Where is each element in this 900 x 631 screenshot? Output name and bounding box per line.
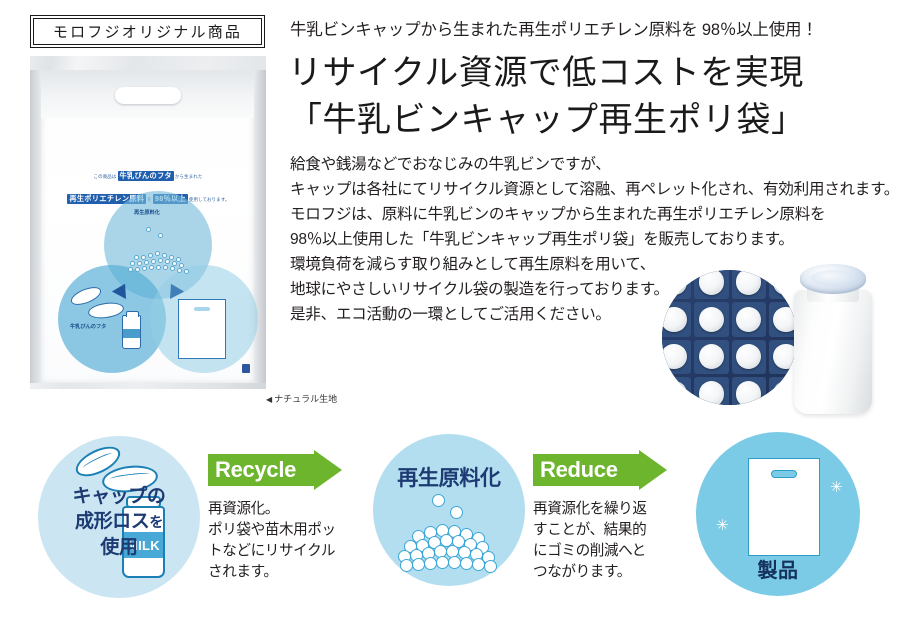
- recycle-arrow-head: [314, 450, 342, 490]
- bag-diagram-milk-bottle-icon: [122, 315, 141, 349]
- flow-arrow-reduce-block: Reduce 再資源化を繰り返 すことが、結果的 にゴミの削減へと つながります…: [533, 450, 681, 583]
- product-bag-photo: この商品は牛乳びんのフタから生まれた 再生ポリエチレン原料を98％以上使用してお…: [30, 56, 266, 389]
- bag-printed-diagram: 再生原料化 牛乳びんのフタ: [48, 191, 252, 389]
- sparkle-icon-1: ✳: [716, 518, 729, 533]
- reduce-caption: 再資源化を繰り返 すことが、結果的 にゴミの削減へと つながります。: [533, 499, 669, 583]
- body-line: 給食や銭湯などでおなじみの牛乳ビンですが、: [290, 152, 820, 177]
- body-line: キャップは各社にてリサイクル資源として溶融、再ペレット化され、有効利用されます。: [290, 177, 820, 202]
- flow-step-1-label-line-2-main: 成形ロス: [75, 511, 149, 532]
- recycle-caption: 再資源化。 ポリ袋や苗木用ポッ トなどにリサイクル されます。: [208, 499, 344, 583]
- bag-diagram-pellets: [128, 227, 192, 279]
- bag-diagram-product-bag-icon: [178, 299, 226, 359]
- bottle-cap: [800, 264, 866, 294]
- reduce-caption-line: つながります。: [533, 562, 669, 583]
- bag-handle-cutout: [115, 87, 181, 104]
- recycling-flow-diagram: MILK キャップの 成形ロスを 使用 Recycle 再資源化。 ポリ袋や苗木…: [0, 428, 900, 631]
- bag-print-l1-pre: この商品は: [94, 174, 117, 179]
- flow-step-2-label: 再生原料化: [373, 462, 525, 492]
- bag-print-l1-post: から生まれた: [175, 174, 203, 179]
- sparkle-icon-2: ✳: [830, 480, 843, 495]
- headline-line-1: リサイクル資源で低コストを実現: [288, 45, 804, 94]
- recycle-caption-line: ポリ袋や苗木用ポッ: [208, 520, 344, 541]
- flow-step-1-label-line-2: 成形ロスを: [38, 509, 200, 535]
- recycle-arrow-icon: Recycle: [208, 450, 342, 490]
- original-product-badge: モロフジオリジナル商品: [30, 15, 265, 48]
- reduce-arrow-icon: Reduce: [533, 450, 667, 490]
- bag-right-edge: [254, 70, 266, 383]
- bag-print-l1-highlight: 牛乳びんのフタ: [118, 171, 174, 181]
- flow-step-3-label: 製品: [696, 554, 860, 583]
- milk-bottle-photo-group: [662, 262, 900, 417]
- reduce-caption-line: にゴミの削減へと: [533, 541, 669, 562]
- flow-arrow-recycle-block: Recycle 再資源化。 ポリ袋や苗木用ポッ トなどにリサイクル されます。: [208, 450, 356, 583]
- badge-inner-frame: モロフジオリジナル商品: [33, 18, 262, 45]
- bag-left-edge: [30, 70, 41, 383]
- reduce-arrow-body: Reduce: [533, 454, 639, 486]
- reduce-caption-line: すことが、結果的: [533, 520, 669, 541]
- lead-text: 牛乳ビンキャップから生まれた再生ポリエチレン原料を 98％以上使用！: [290, 16, 818, 40]
- caption-text: ナチュラル生地: [274, 394, 337, 404]
- milk-crate-grid: [662, 270, 797, 405]
- recycle-caption-line: されます。: [208, 562, 344, 583]
- reduce-caption-line: 再資源化を繰り返: [533, 499, 669, 520]
- reduce-arrow-label: Reduce: [533, 457, 618, 483]
- body-line: モロフジは、原料に牛乳ビンのキャップから生まれた再生ポリエチレン原料を: [290, 202, 820, 227]
- flow-step-1-label-line-3: 使用: [38, 535, 200, 560]
- headline-line-2: 「牛乳ビンキャップ再生ポリ袋」: [288, 92, 806, 141]
- recycle-arrow-label: Recycle: [208, 457, 296, 483]
- reduce-arrow-head: [639, 450, 667, 490]
- page-root: モロフジオリジナル商品 この商品は牛乳びんのフタから生まれた 再生ポリエチレン原…: [0, 0, 900, 631]
- flow-step-1-label-line-1: キャップの: [38, 484, 200, 509]
- bag-photo-caption: ◀ナチュラル生地: [266, 392, 337, 405]
- bag-diagram-label-caps: 牛乳びんのフタ: [70, 323, 106, 330]
- badge-label: モロフジオリジナル商品: [53, 21, 242, 42]
- flow-step-1-label: キャップの 成形ロスを 使用: [38, 484, 200, 560]
- bag-print-line-1: この商品は牛乳びんのフタから生まれた: [46, 162, 250, 185]
- product-bag-icon: [748, 458, 820, 556]
- bag-diagram-label-recycled: 再生原料化: [134, 209, 160, 216]
- flow-step-1-label-line-2-suffix: を: [149, 514, 163, 530]
- recycle-caption-line: トなどにリサイクル: [208, 541, 344, 562]
- bag-diagram-bottle-band: [123, 329, 140, 338]
- bag-brand-logo-mark: [242, 364, 250, 373]
- single-milk-bottle-photo: [780, 262, 888, 414]
- caption-arrow-icon: ◀: [266, 395, 272, 404]
- recycle-arrow-body: Recycle: [208, 454, 314, 486]
- body-line: 98％以上使用した「牛乳ビンキャップ再生ポリ袋」を販売しております。: [290, 227, 820, 252]
- flow-step-2-pellets: [398, 494, 502, 574]
- bottle-glass: [794, 290, 872, 414]
- recycle-caption-line: 再資源化。: [208, 499, 344, 520]
- milk-crate-photo: [662, 270, 797, 405]
